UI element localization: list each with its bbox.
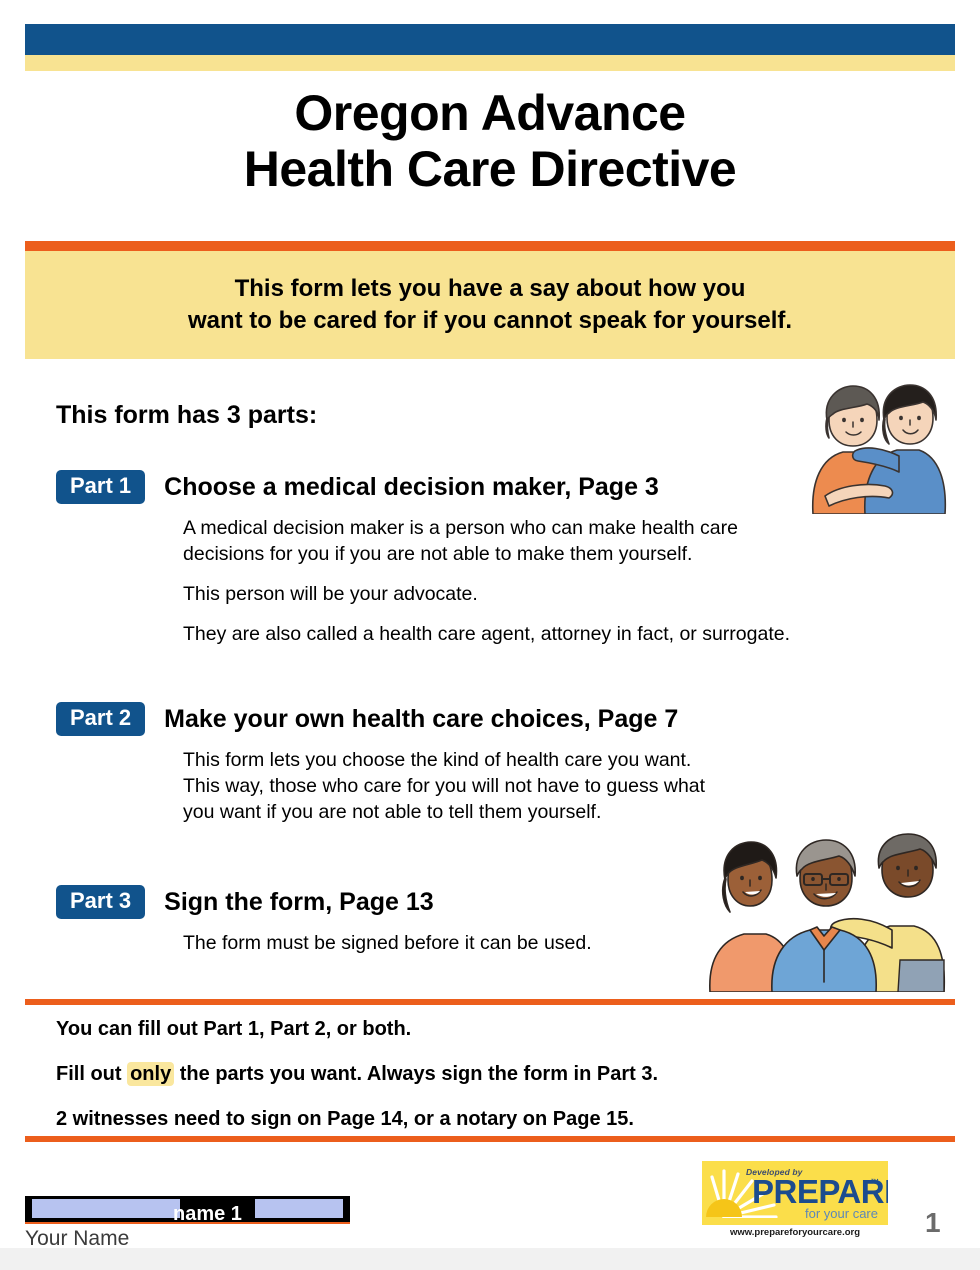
page-title: Oregon Advance Health Care Directive <box>25 85 955 197</box>
notes-block: You can fill out Part 1, Part 2, or both… <box>56 1017 936 1131</box>
part-2-paragraph-1: This form lets you choose the kind of he… <box>183 748 705 826</box>
notes-top-rule <box>25 999 955 1005</box>
banner-orange-rule <box>25 241 955 251</box>
logo-trademark-symbol: ™ <box>870 1177 879 1187</box>
page-number: 1 <box>925 1207 941 1239</box>
note-line-2-before: Fill out <box>56 1063 127 1085</box>
part-1-header: Part 1 Choose a medical decision maker, … <box>56 470 790 504</box>
part-3-paragraph-1: The form must be signed before it can be… <box>183 931 592 957</box>
part-2-body: This form lets you choose the kind of he… <box>183 748 705 826</box>
logo-wordmark: PREPARE <box>752 1175 888 1208</box>
part-1-paragraph-2: This person will be your advocate. <box>183 582 790 608</box>
title-line-2: Health Care Directive <box>25 141 955 197</box>
viewport-bottom-strip <box>0 1248 980 1270</box>
prepare-website-url: www.prepareforyourcare.org <box>702 1227 888 1238</box>
parts-heading: This form has 3 parts: <box>56 401 317 430</box>
note-line-2-after: the parts you want. Always sign the form… <box>174 1063 658 1085</box>
part-2-header: Part 2 Make your own health care choices… <box>56 702 705 736</box>
your-name-field-group[interactable]: name 1 <box>25 1196 350 1224</box>
part-3-badge: Part 3 <box>56 885 145 919</box>
your-name-input[interactable]: name 1 <box>25 1196 350 1222</box>
part-1-paragraph-1: A medical decision maker is a person who… <box>183 516 790 568</box>
part-3-header: Part 3 Sign the form, Page 13 <box>56 885 592 919</box>
subtitle-banner: This form lets you have a say about how … <box>25 251 955 359</box>
text-selection-highlight-right <box>255 1199 343 1218</box>
your-name-underline <box>25 1222 350 1224</box>
header-blue-bar <box>25 24 955 55</box>
part-2-title: Make your own health care choices, Page … <box>164 705 678 734</box>
note-line-2: Fill out only the parts you want. Always… <box>56 1062 936 1086</box>
part-1-section: Part 1 Choose a medical decision maker, … <box>56 470 790 648</box>
two-women-illustration <box>795 382 955 514</box>
part-3-body: The form must be signed before it can be… <box>183 931 592 957</box>
part-3-section: Part 3 Sign the form, Page 13 The form m… <box>56 885 592 957</box>
document-page: Oregon Advance Health Care Directive Thi… <box>0 0 980 1270</box>
text-selection-highlight-left <box>32 1199 180 1218</box>
three-people-illustration <box>700 832 950 992</box>
logo-tagline: for your care <box>805 1206 878 1221</box>
part-1-body: A medical decision maker is a person who… <box>183 516 790 648</box>
part-1-title: Choose a medical decision maker, Page 3 <box>164 473 659 502</box>
subtitle-text: This form lets you have a say about how … <box>188 273 792 337</box>
note-line-1: You can fill out Part 1, Part 2, or both… <box>56 1017 936 1041</box>
part-2-section: Part 2 Make your own health care choices… <box>56 702 705 826</box>
note-highlight-only: only <box>127 1062 174 1086</box>
title-line-1: Oregon Advance <box>25 85 955 141</box>
note-line-3: 2 witnesses need to sign on Page 14, or … <box>56 1107 936 1131</box>
prepare-logo: Developed by PREPARE ™ for your care <box>702 1161 888 1225</box>
notes-bottom-rule <box>25 1136 955 1142</box>
part-3-title: Sign the form, Page 13 <box>164 888 434 917</box>
header-yellow-bar <box>25 55 955 71</box>
part-1-paragraph-3: They are also called a health care agent… <box>183 622 790 648</box>
part-2-badge: Part 2 <box>56 702 145 736</box>
part-1-badge: Part 1 <box>56 470 145 504</box>
your-name-input-value: name 1 <box>173 1204 242 1222</box>
